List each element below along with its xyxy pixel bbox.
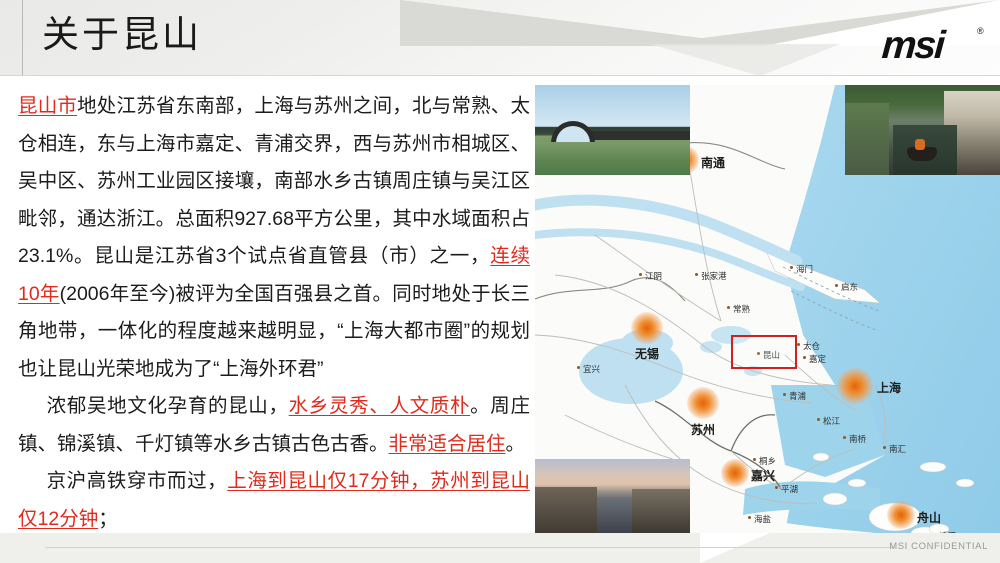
map-label-宜兴: 宜兴 (583, 363, 600, 375)
footer-band (0, 533, 1000, 563)
body-text-run: 。 (506, 433, 526, 455)
body-paragraph: 浓郁吴地文化孕育的昆山，水乡灵秀、人文质朴。周庄镇、锦溪镇、千灯镇等水乡古镇古色… (18, 388, 530, 463)
map-city-dot (843, 436, 846, 439)
map-city-dot (817, 418, 820, 421)
city-glow-shanghai (837, 368, 873, 404)
map-label-海门: 海门 (796, 263, 813, 275)
map-label-张家港: 张家港 (701, 270, 727, 282)
header-baseline-divider (0, 75, 1000, 76)
map-label-wuxi: 无锡 (635, 345, 659, 362)
slide-header: 关于昆山 msi ® (0, 0, 1000, 76)
city-glow-zhoushan (887, 501, 915, 529)
highlighted-text: 非常适合居住 (389, 433, 506, 455)
map-label-南桥: 南桥 (849, 433, 866, 445)
map-city-dot (797, 343, 800, 346)
map-label-海盐: 海盐 (754, 513, 771, 525)
footer-rule (45, 547, 895, 548)
sunset-left-buildings (535, 487, 597, 533)
map-label-suzhou: 苏州 (691, 421, 715, 438)
slide-canvas: 关于昆山 msi ® 昆山市地处江苏省东南部，上海与苏州之间，北与常熟、太仓相连… (0, 0, 1000, 563)
msi-logo: msi (881, 26, 945, 65)
map-city-dot (803, 356, 806, 359)
body-text-run: (2006年至今)被评为全国百强县之首。同时地处于长三角地带，一体化的程度越来越… (18, 283, 530, 380)
map-label-江阴: 江阴 (645, 270, 662, 282)
map-city-dot (835, 284, 838, 287)
page-title: 关于昆山 (42, 16, 202, 53)
map-city-dot (727, 306, 730, 309)
map-label-zhoushan: 舟山 (917, 509, 941, 526)
map-city-dot (790, 266, 793, 269)
body-text-run: 京沪高铁穿市而过， (46, 470, 227, 492)
body-text-run: 浓郁吴地文化孕育的昆山， (46, 395, 289, 417)
map-city-dot (753, 458, 756, 461)
footer-diagonal-cut (700, 533, 770, 563)
map-city-dot (883, 446, 886, 449)
map-label-平湖: 平湖 (781, 483, 798, 495)
map-label-南汇: 南汇 (889, 443, 906, 455)
header-vertical-rule (22, 0, 23, 76)
map-label-启东: 启东 (841, 281, 858, 293)
map-label-jiaxing: 嘉兴 (751, 467, 775, 484)
slide-footer: MSI CONFIDENTIAL (0, 533, 1000, 563)
photo-sunset-river (535, 459, 690, 533)
canal-boatman (915, 139, 925, 150)
map-city-dot (577, 366, 580, 369)
map-label-shanghai: 上海 (877, 379, 901, 396)
city-glow-wuxi (631, 312, 663, 344)
highlighted-text: 昆山市 (18, 95, 77, 117)
body-text-block: 昆山市地处江苏省东南部，上海与苏州之间，北与常熟、太仓相连，东与上海市嘉定、青浦… (18, 88, 530, 563)
bridge-water (535, 142, 690, 175)
map-city-dot (748, 516, 751, 519)
map-label-常熟: 常熟 (733, 303, 750, 315)
sunset-river-water (593, 497, 637, 533)
map-label-nantong: 南通 (701, 154, 725, 171)
body-text-run: ； (98, 508, 118, 530)
registered-trademark-icon: ® (977, 26, 984, 36)
map-city-dot (775, 486, 778, 489)
city-glow-suzhou (687, 387, 719, 419)
map-label-松江: 松江 (823, 415, 840, 427)
city-glow-jiaxing (721, 459, 749, 487)
canal-left-wall (845, 103, 889, 175)
sunset-right-buildings (632, 489, 690, 533)
map-label-太仓: 太仓 (803, 340, 820, 352)
footer-confidential-label: MSI CONFIDENTIAL (889, 541, 988, 552)
photo-canal-boat (845, 85, 1000, 175)
body-paragraph: 昆山市地处江苏省东南部，上海与苏州之间，北与常熟、太仓相连，东与上海市嘉定、青浦… (18, 88, 530, 388)
map-kunshan-highlight-box (731, 335, 797, 369)
header-shape-light-triangle (650, 44, 840, 76)
bridge-deck (579, 131, 690, 140)
header-shape-left-wedge (400, 0, 764, 46)
body-text-run: 地处江苏省东南部，上海与苏州之间，北与常熟、太仓相连，东与上海市嘉定、青浦交界，… (18, 95, 530, 267)
body-paragraph: 京沪高铁穿市而过，上海到昆山仅17分钟，苏州到昆山仅12分钟； (18, 463, 530, 538)
photo-water-town-bridge (535, 85, 690, 175)
map-city-dot (695, 273, 698, 276)
highlighted-text: 水乡灵秀、人文质朴 (289, 395, 470, 417)
map-label-桐乡: 桐乡 (759, 455, 776, 467)
map-label-嘉定: 嘉定 (809, 353, 826, 365)
map-city-dot (639, 273, 642, 276)
map-city-dot (783, 393, 786, 396)
map-label-青浦: 青浦 (789, 390, 806, 402)
